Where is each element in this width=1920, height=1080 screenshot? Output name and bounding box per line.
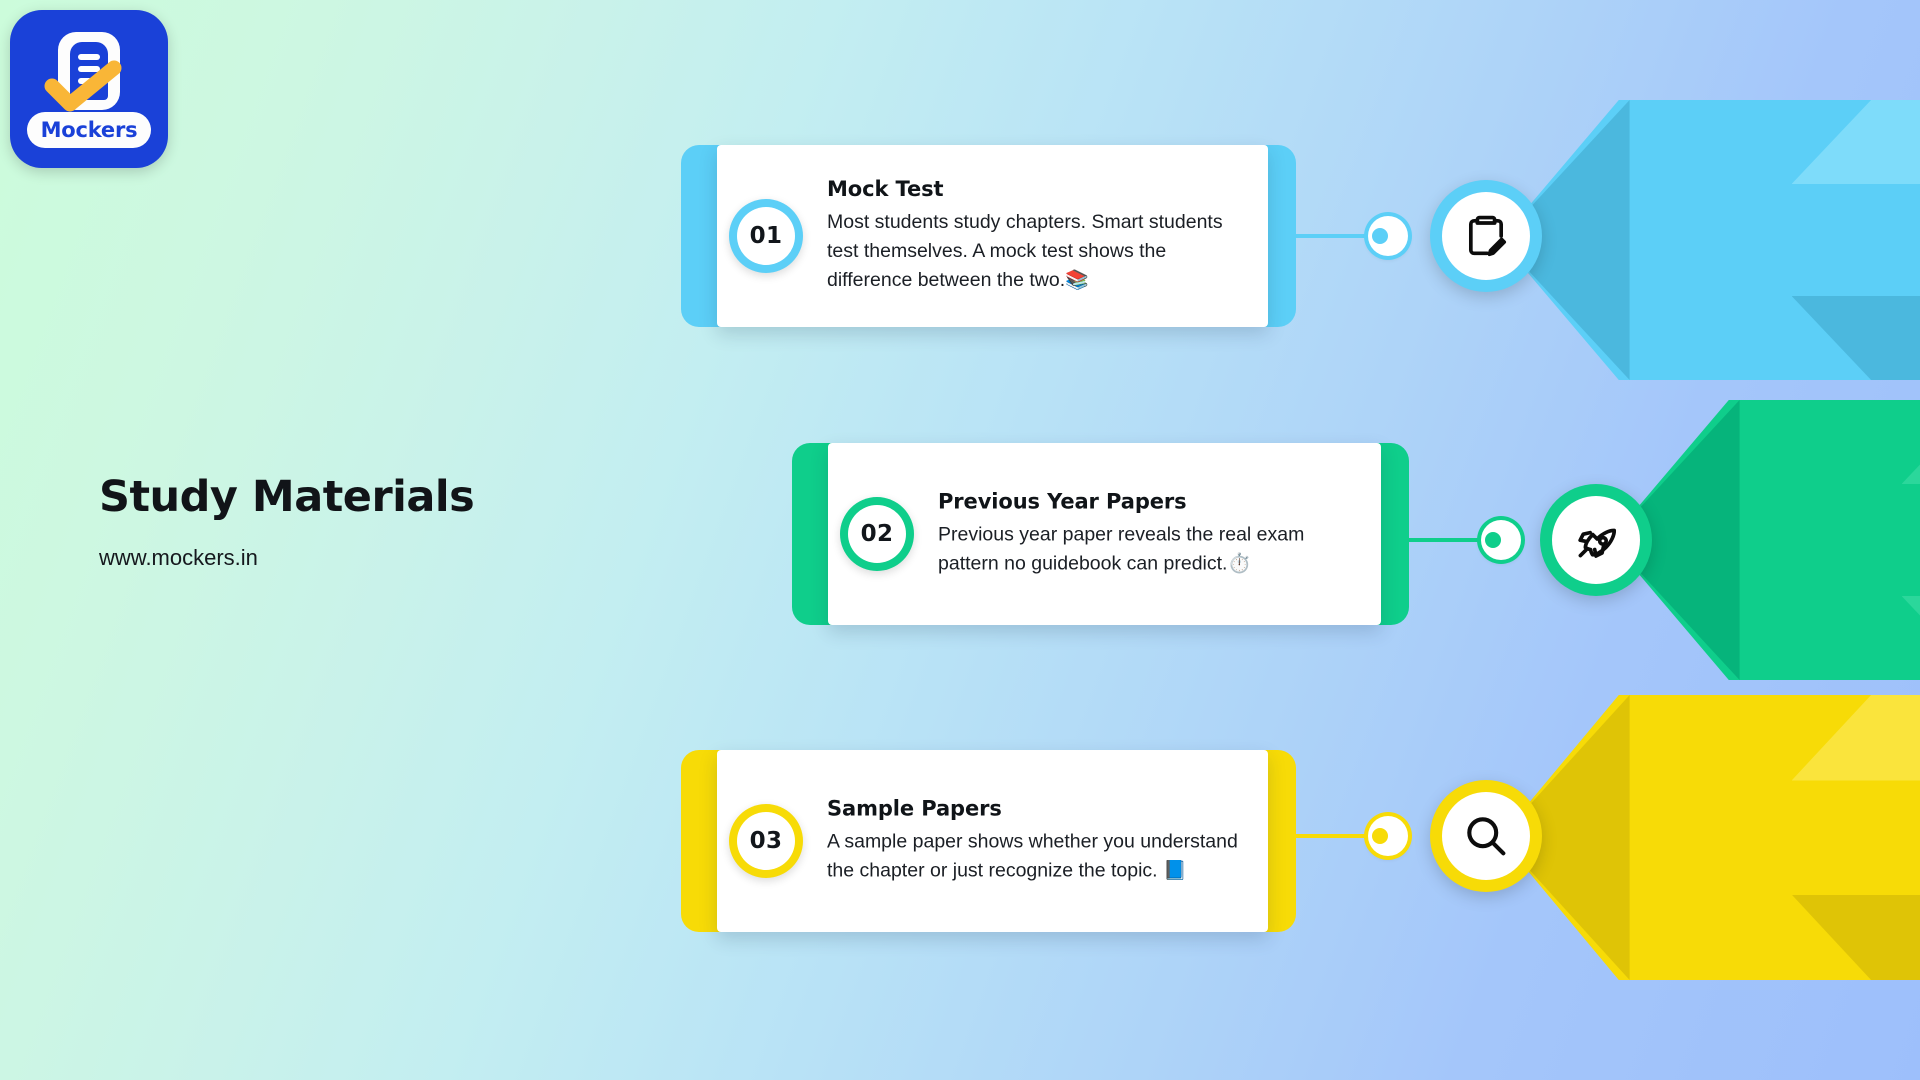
connector-node-1: [1368, 216, 1408, 256]
hex-shape-blue: [1500, 100, 1920, 380]
icon-circle-inner: [1442, 792, 1530, 880]
card-number-badge: 02: [840, 497, 914, 571]
card-number: 01: [737, 207, 795, 265]
rocket-icon: [1570, 514, 1622, 566]
clipboard-pencil-icon: [1460, 210, 1512, 262]
document-line: [78, 54, 100, 60]
card-title: Sample Papers: [827, 797, 1242, 821]
stopwatch-emoji: ⏱️: [1227, 554, 1251, 575]
card-text-block: Sample Papers A sample paper shows wheth…: [827, 797, 1242, 886]
blue-book-emoji: 📘: [1163, 861, 1187, 882]
page-title: Study Materials: [99, 472, 474, 522]
hex-shape-yellow: [1500, 695, 1920, 980]
card-text-block: Previous Year Papers Previous year paper…: [938, 490, 1355, 579]
icon-badge-rocket[interactable]: [1540, 484, 1652, 596]
card-title: Mock Test: [827, 177, 1242, 201]
card-description: Most students study chapters. Smart stud…: [827, 208, 1242, 295]
card-body: 02 Previous Year Papers Previous year pa…: [828, 443, 1381, 625]
connector-node-3: [1368, 816, 1408, 856]
connector-dot: [1372, 228, 1388, 244]
icon-circle-inner: [1552, 496, 1640, 584]
card-sample-papers[interactable]: 03 Sample Papers A sample paper shows wh…: [681, 750, 1296, 932]
card-number: 03: [737, 812, 795, 870]
card-description: Previous year paper reveals the real exa…: [938, 521, 1355, 579]
hex-shape-green: [1610, 400, 1920, 680]
brand-logo[interactable]: Mockers: [10, 10, 168, 168]
infographic-canvas: Mockers Study Materials www.mockers.in 0…: [0, 0, 1920, 1080]
card-description: A sample paper shows whether you underst…: [827, 828, 1242, 886]
icon-circle-inner: [1442, 192, 1530, 280]
icon-badge-clipboard[interactable]: [1430, 180, 1542, 292]
card-title: Previous Year Papers: [938, 490, 1355, 514]
card-text-block: Mock Test Most students study chapters. …: [827, 177, 1242, 295]
card-body: 03 Sample Papers A sample paper shows wh…: [717, 750, 1268, 932]
connector-dot: [1372, 828, 1388, 844]
brand-name-pill: Mockers: [27, 112, 151, 148]
website-url: www.mockers.in: [99, 545, 258, 571]
brand-name: Mockers: [41, 118, 138, 142]
card-description-text: Most students study chapters. Smart stud…: [827, 211, 1223, 291]
books-emoji: 📚: [1065, 270, 1089, 291]
card-number-badge: 03: [729, 804, 803, 878]
card-number-badge: 01: [729, 199, 803, 273]
icon-badge-magnifier[interactable]: [1430, 780, 1542, 892]
connector-dot: [1485, 532, 1501, 548]
checkmark-icon: [46, 62, 120, 108]
card-body: 01 Mock Test Most students study chapter…: [717, 145, 1268, 327]
card-number: 02: [848, 505, 906, 563]
connector-node-2: [1481, 520, 1521, 560]
card-previous-year-papers[interactable]: 02 Previous Year Papers Previous year pa…: [792, 443, 1409, 625]
card-mock-test[interactable]: 01 Mock Test Most students study chapter…: [681, 145, 1296, 327]
magnifier-icon: [1460, 810, 1512, 862]
